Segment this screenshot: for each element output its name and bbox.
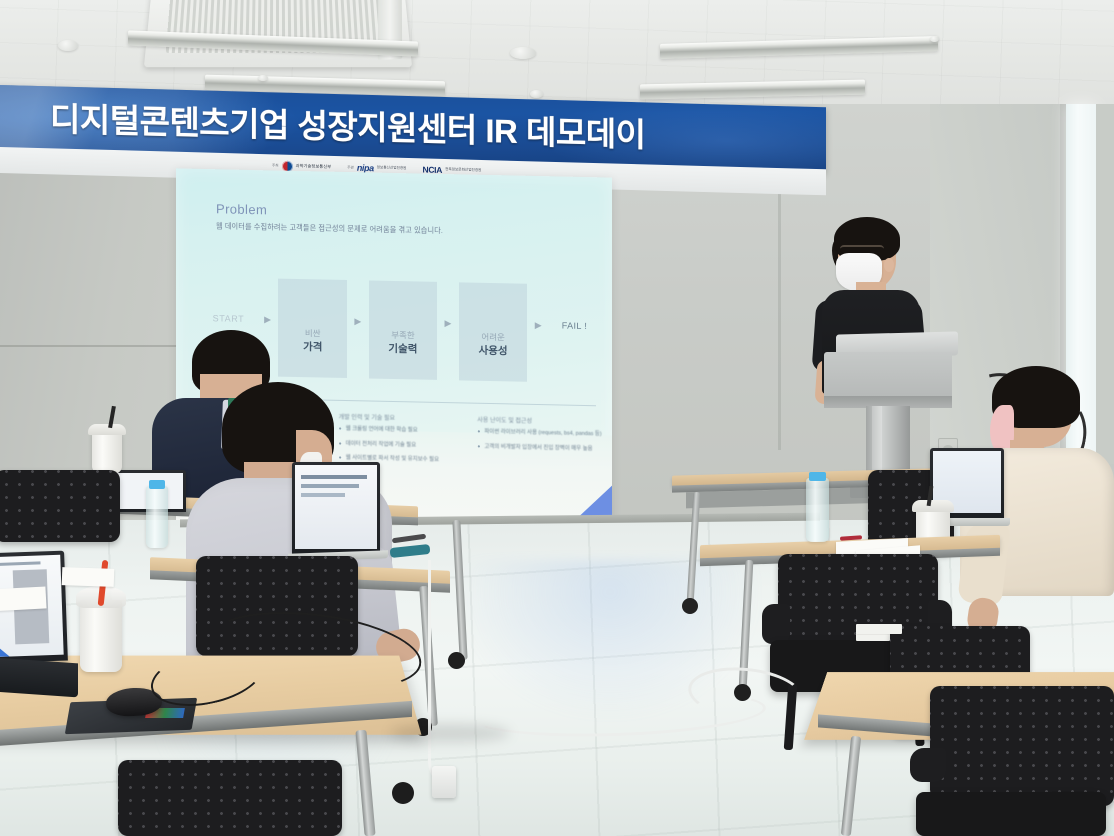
- chair-label: [856, 624, 902, 634]
- cup-lid: [912, 500, 954, 512]
- slide-subtitle: 웹 데이터를 수집하려는 고객들은 접근성의 문제로 어려움을 겪고 있습니다.: [216, 221, 443, 236]
- flow-step-bottom: 사용성: [479, 343, 508, 358]
- flow-step-top: 부족한: [391, 330, 414, 342]
- chair-backrest: [0, 470, 120, 542]
- flow-arrow-icon: ▶: [347, 280, 369, 327]
- smoke-detector-icon: [510, 47, 536, 59]
- table-caster: [682, 598, 698, 614]
- sponsor-name: 과학기술정보통신부: [296, 163, 332, 170]
- flow-arrow-icon: ▶: [527, 284, 549, 331]
- chair-backrest: [930, 686, 1114, 806]
- bullet-text: 데이터 전처리 작업에 기술 필요: [346, 439, 416, 450]
- flow-arrow-icon: ▶: [437, 282, 459, 329]
- flow-step-top: 비싼: [305, 328, 321, 340]
- column-bullet: ● 웹 크롤링 언어에 대한 학습 필요: [339, 425, 464, 437]
- attendee-laptop: [292, 462, 380, 554]
- bottle-cap: [809, 472, 826, 481]
- paper-document: [0, 586, 47, 611]
- chair-armrest: [910, 748, 946, 782]
- slide-column: 사용 난이도 및 접근성 ● 파이썬 라이브러리 사용 (requests, b…: [477, 415, 602, 474]
- flow-step-box: 비싼 가격: [278, 279, 347, 378]
- sponsor-subname: 정보통신산업진흥원: [377, 166, 407, 171]
- slide-title: Problem: [216, 201, 267, 217]
- bullet-text: 고객의 비개발자 입장에서 진입 장벽이 매우 높음: [484, 442, 592, 454]
- bullet-dot-icon: ●: [339, 425, 342, 435]
- flow-arrow-icon: ▶: [257, 278, 279, 325]
- column-bullet: ● 파이썬 라이브러리 사용 (requests, bs4, pandas 등): [477, 428, 602, 440]
- column-heading: 개발 인력 및 기술 필요: [339, 412, 464, 424]
- bullet-text: 웹 크롤링 언어에 대한 학습 필요: [346, 425, 418, 436]
- bullet-dot-icon: ●: [477, 428, 480, 438]
- bullet-dot-icon: ●: [477, 442, 480, 452]
- chair-armrest: [762, 604, 790, 644]
- chair-backrest: [118, 760, 342, 836]
- table-caster: [392, 782, 414, 804]
- wall-seam: [0, 345, 180, 347]
- flow-step-top: 어려운: [481, 332, 504, 344]
- smoke-detector-icon: [530, 90, 543, 98]
- cup-lid: [88, 424, 126, 435]
- laptop-keyboard: [0, 657, 78, 698]
- column-bullet: ● 데이터 전처리 작업에 기술 필요: [339, 439, 464, 451]
- paper-document: [62, 567, 115, 587]
- flow-step-bottom: 가격: [303, 340, 322, 355]
- flow-step-bottom: 기술력: [388, 342, 417, 357]
- presenter-ear: [884, 258, 894, 272]
- laptop-display: [295, 465, 377, 549]
- flow-step-box: 부족한 기술력: [369, 280, 438, 379]
- seminar-room-photo: 디지털콘텐츠기업 성장지원센터 IR 데모데이 주최 과학기술정보통신부 주관 …: [0, 0, 1114, 836]
- flow-end-label: FAIL !: [549, 284, 600, 331]
- sponsor-tag: 주관: [347, 165, 354, 170]
- smoke-detector-icon: [58, 40, 78, 51]
- smoke-detector-icon: [258, 75, 268, 81]
- water-bottle: [806, 478, 829, 542]
- sponsor-tag: 주최: [272, 163, 279, 168]
- chair-seat: [916, 792, 1106, 836]
- flow-start-label: START: [200, 277, 257, 324]
- plastic-cup: [92, 432, 122, 474]
- bottle-cap: [149, 480, 165, 489]
- column-bullet: ● 고객의 비개발자 입장에서 진입 장벽이 매우 높음: [477, 442, 602, 454]
- smoke-detector-icon: [930, 36, 939, 42]
- column-heading: 사용 난이도 및 접근성: [477, 415, 602, 427]
- water-bottle: [146, 486, 168, 548]
- power-adapter: [432, 766, 456, 798]
- sponsor-subname: 전북정보문화산업진흥원: [445, 168, 481, 173]
- power-cable: [428, 560, 457, 790]
- flow-step-box: 어려운 사용성: [459, 282, 528, 381]
- bullet-text: 파이썬 라이브러리 사용 (requests, bs4, pandas 등): [484, 428, 601, 440]
- right-wall-return: [1096, 104, 1114, 464]
- plastic-cup: [80, 600, 122, 672]
- bullet-dot-icon: ●: [339, 439, 342, 449]
- table-shadow: [390, 724, 510, 742]
